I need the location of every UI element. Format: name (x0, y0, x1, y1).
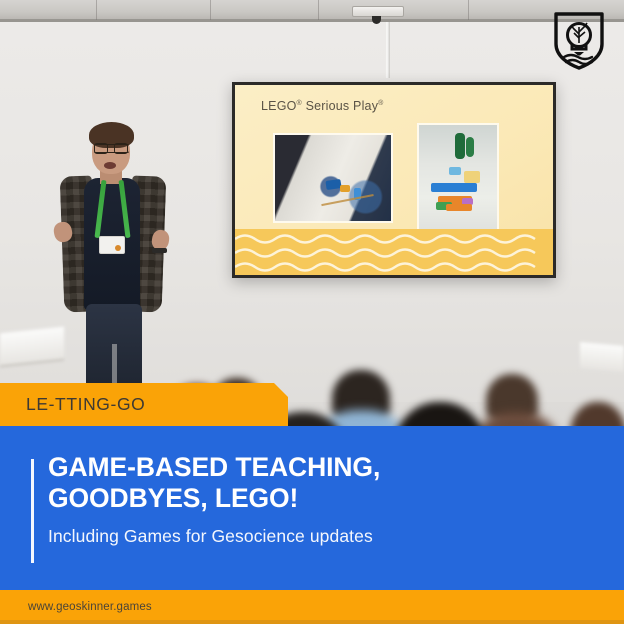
ceiling-tile-seam (210, 0, 211, 20)
accent-rule (31, 459, 34, 563)
headline-line-1: GAME-BASED TEACHING, (48, 452, 600, 483)
presentation-screen: LEGO® Serious Play® (232, 82, 556, 278)
slide-photo-workshop-image (275, 135, 391, 221)
lego-tree-icon (466, 137, 474, 157)
registered-mark-icon: ® (378, 100, 383, 107)
kicker-tab: LE-TTING-GO (0, 383, 288, 426)
table-edge (322, 194, 375, 206)
slide: LEGO® Serious Play® (235, 85, 553, 275)
headline-band: GAME-BASED TEACHING, GOODBYES, LEGO! Inc… (0, 426, 624, 590)
lego-baseplate (431, 183, 477, 192)
slide-title-lego: LEGO (261, 99, 297, 113)
slide-title: LEGO® Serious Play® (261, 99, 384, 113)
glasses-lens-icon (114, 143, 128, 154)
slide-title-middle: Serious Play (302, 99, 378, 113)
slide-photo-workshop (273, 133, 393, 223)
footer-bottom-edge (0, 620, 624, 624)
slide-photo-model (417, 123, 499, 231)
wristwatch-icon (152, 248, 167, 253)
shield-lightbulb-tree-logo (552, 10, 606, 70)
subheadline: Including Games for Gesocience updates (48, 526, 600, 547)
ceiling-tile-seam (468, 0, 469, 20)
ceiling-edge-line (0, 19, 624, 22)
footer-bar: www.geoskinner.games (0, 590, 624, 624)
ceiling-tile-seam (96, 0, 97, 20)
lego-brick (340, 185, 350, 192)
projector-pole (385, 22, 390, 78)
website-url[interactable]: www.geoskinner.games (28, 601, 152, 613)
headline-line-2: GOODBYES, LEGO! (48, 483, 600, 514)
slide-wave-decoration-icon (235, 229, 553, 275)
ceiling-tile-seam (318, 0, 319, 20)
lego-brick (446, 204, 472, 211)
kicker-label: LE-TTING-GO (26, 394, 145, 415)
lego-brick (464, 171, 480, 183)
mouth (104, 162, 116, 169)
headline-block: GAME-BASED TEACHING, GOODBYES, LEGO! Inc… (48, 452, 600, 547)
slide-photo-model-image (419, 125, 497, 229)
glasses-lens-icon (94, 143, 108, 154)
lego-brick (449, 167, 461, 175)
name-badge (99, 236, 125, 254)
promo-card: LEGO® Serious Play® (0, 0, 624, 624)
presenter-figure (40, 112, 180, 402)
lego-tree-icon (455, 133, 465, 159)
